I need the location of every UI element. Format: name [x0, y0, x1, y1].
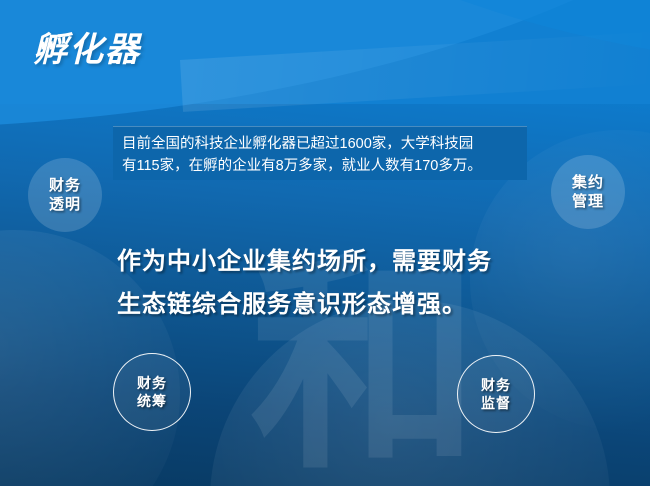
badge-financial-transparency[interactable]: 财务 透明: [28, 158, 102, 232]
badge-intensive-management[interactable]: 集约 管理: [551, 155, 625, 229]
badge-financial-supervision[interactable]: 财务 监督: [457, 355, 535, 433]
slide-title: 孵化器: [33, 22, 141, 71]
badge-financial-transparency-line2: 透明: [49, 195, 81, 214]
callout-line-1: 目前全国的科技企业孵化器已超过1600家，大学科技园: [122, 133, 518, 155]
headline-line-2: 生态链综合服务意识形态增强。: [117, 283, 547, 326]
headline-block: 作为中小企业集约场所，需要财务 生态链综合服务意识形态增强。: [117, 240, 547, 326]
badge-financial-supervision-line2: 监督: [481, 394, 511, 412]
badge-intensive-management-line2: 管理: [572, 192, 604, 211]
badge-intensive-management-line1: 集约: [572, 173, 604, 192]
badge-financial-planning-line2: 统筹: [137, 392, 167, 410]
headline-line-1: 作为中小企业集约场所，需要财务: [117, 240, 547, 283]
presentation-slide: 和 孵化器 目前全国的科技企业孵化器已超过1600家，大学科技园 有115家，在…: [0, 0, 650, 486]
callout-line-2: 有115家，在孵的企业有8万多家，就业人数有170多万。: [122, 155, 518, 177]
badge-financial-planning[interactable]: 财务 统筹: [113, 353, 191, 431]
badge-financial-supervision-line1: 财务: [481, 376, 511, 394]
badge-financial-planning-line1: 财务: [137, 374, 167, 392]
statistics-callout-box: 目前全国的科技企业孵化器已超过1600家，大学科技园 有115家，在孵的企业有8…: [113, 126, 527, 180]
badge-financial-transparency-line1: 财务: [49, 176, 81, 195]
